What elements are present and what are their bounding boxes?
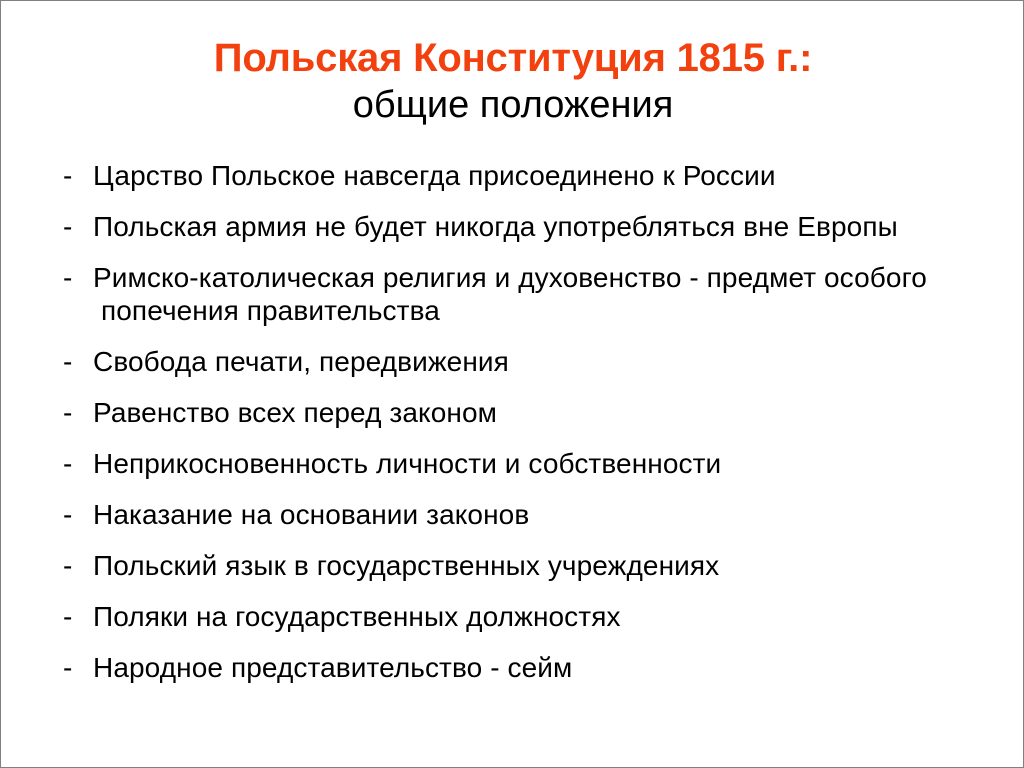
list-item: - Римско-католическая религия и духовенс…: [59, 261, 989, 327]
list-item-label: Свобода печати, передвижения: [93, 345, 989, 378]
dash-bullet-icon: -: [63, 396, 72, 429]
list-item-label: Поляки на государственных должностях: [93, 600, 989, 633]
dash-bullet-icon: -: [63, 600, 72, 633]
dash-bullet-icon: -: [63, 345, 72, 378]
list-item: - Народное представительство - сейм: [59, 651, 989, 684]
list-item-label: Царство Польское навсегда присоединено к…: [93, 159, 989, 192]
list-item-label: Наказание на основании законов: [93, 498, 989, 531]
title-line-secondary: общие положения: [1, 81, 1024, 129]
slide: Польская Конституция 1815 г.: общие поло…: [0, 0, 1024, 768]
list-item-label: Римско-католическая религия и духовенств…: [93, 261, 989, 327]
list-item: - Неприкосновенность личности и собствен…: [59, 447, 989, 480]
dash-bullet-icon: -: [63, 498, 72, 531]
dash-bullet-icon: -: [63, 549, 72, 582]
title-line-primary: Польская Конституция 1815 г.:: [1, 35, 1024, 81]
list-item-label: Польская армия не будет никогда употребл…: [93, 210, 989, 243]
slide-title: Польская Конституция 1815 г.: общие поло…: [1, 35, 1024, 129]
list-item-label: Народное представительство - сейм: [93, 651, 989, 684]
list-item-label: Равенство всех перед законом: [93, 396, 989, 429]
dash-bullet-icon: -: [63, 159, 72, 192]
list-item-label: Неприкосновенность личности и собственно…: [93, 447, 989, 480]
list-item: - Царство Польское навсегда присоединено…: [59, 159, 989, 192]
list-item: - Поляки на государственных должностях: [59, 600, 989, 633]
list-item-label: Польский язык в государственных учрежден…: [93, 549, 989, 582]
list-item: - Польская армия не будет никогда употре…: [59, 210, 989, 243]
list-item: - Равенство всех перед законом: [59, 396, 989, 429]
dash-bullet-icon: -: [63, 261, 72, 294]
dash-bullet-icon: -: [63, 447, 72, 480]
list-item: - Польский язык в государственных учрежд…: [59, 549, 989, 582]
provisions-list: - Царство Польское навсегда присоединено…: [59, 159, 989, 684]
dash-bullet-icon: -: [63, 651, 72, 684]
list-item: - Свобода печати, передвижения: [59, 345, 989, 378]
list-item: - Наказание на основании законов: [59, 498, 989, 531]
dash-bullet-icon: -: [63, 210, 72, 243]
